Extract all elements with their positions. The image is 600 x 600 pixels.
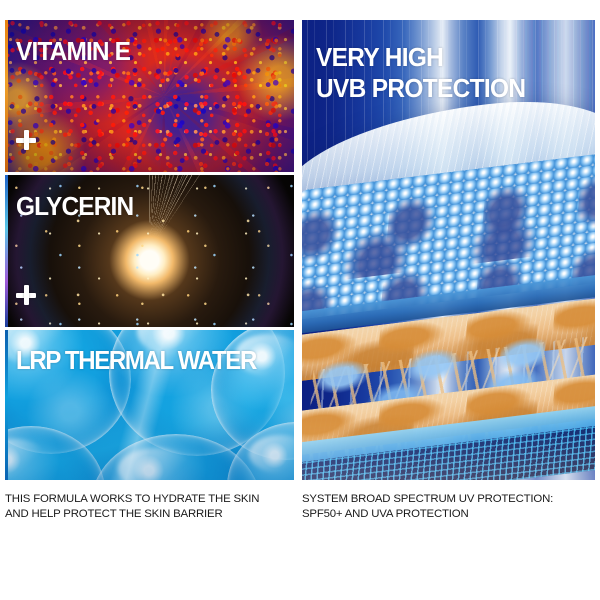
ingredients-column: VITAMIN E GLYCERIN: [5, 20, 294, 480]
panel-vitamin-e[interactable]: VITAMIN E: [5, 20, 294, 172]
plus-icon-1: [16, 130, 36, 150]
panel-lrp-thermal-water[interactable]: LRP THERMAL WATER: [5, 330, 294, 480]
panel-vitamin-e-left-edge: [5, 20, 8, 172]
uvb-bottom-glow: [302, 420, 595, 480]
protection-column: VERY HIGH UVB PROTECTION: [302, 20, 595, 480]
plus-icon-2: [16, 285, 36, 305]
right-caption: SYSTEM BROAD SPECTRUM UV PROTECTION: SPF…: [302, 492, 594, 523]
panel-lrp-thermal-water-heading: LRP THERMAL WATER: [16, 346, 256, 376]
panel-glycerin-left-edge: [5, 175, 8, 327]
panel-vitamin-e-heading: VITAMIN E: [16, 36, 130, 66]
product-benefits-infographic: VITAMIN E GLYCERIN: [0, 0, 600, 600]
panel-glycerin-heading: GLYCERIN: [16, 191, 133, 221]
panel-lrp-thermal-water-left-edge: [5, 330, 8, 480]
panel-uvb-protection-heading: VERY HIGH UVB PROTECTION: [316, 42, 525, 104]
left-caption: THIS FORMULA WORKS TO HYDRATE THE SKIN A…: [5, 492, 295, 523]
panel-glycerin[interactable]: GLYCERIN: [5, 175, 294, 327]
panel-uvb-protection[interactable]: VERY HIGH UVB PROTECTION: [302, 20, 595, 480]
